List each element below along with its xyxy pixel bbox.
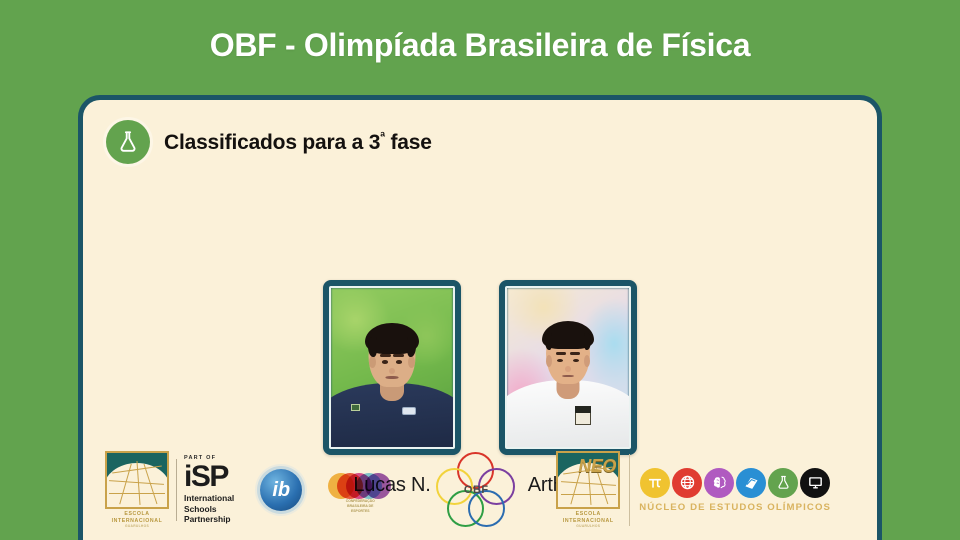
neo-emblem-word: NEO — [578, 456, 616, 477]
logo-neo-subjects: NÚCLEO DE ESTUDOS OLÍMPICOS — [639, 468, 831, 513]
logo-neo-emblem: NEO ESCOLA INTERNACIONAL GUARULHOS — [556, 451, 620, 528]
photo-hair-side-left — [368, 337, 377, 357]
escola-name-line3: GUARULHOS — [105, 524, 169, 528]
photo-brow-right — [570, 352, 580, 354]
card-header-prefix: Classificados para a 3 — [164, 131, 380, 154]
partner-logos-strip: ESCOLA INTERNACIONAL GUARULHOS PART OF i… — [95, 438, 865, 540]
photo-nose — [565, 366, 571, 372]
confederacao-logo: CONFEDERAÇÃO BRASILEIRA DE ESPORTES — [328, 473, 392, 507]
logo-escola-isp: ESCOLA INTERNACIONAL GUARULHOS PART OF i… — [105, 451, 234, 528]
flask-icon — [106, 120, 150, 164]
photo-brow-left — [556, 352, 566, 354]
card-header-label: Classificados para a 3ª fase — [164, 129, 432, 155]
photo-shirt-badge — [351, 404, 360, 411]
photo-brow-right — [393, 354, 404, 357]
pi-icon — [640, 468, 670, 498]
photo-shirt-emblem — [402, 407, 416, 415]
card-header: Classificados para a 3ª fase — [106, 120, 432, 164]
logo-confederacao: CONFEDERAÇÃO BRASILEIRA DE ESPORTES — [328, 473, 392, 507]
neo-icon-row — [640, 468, 830, 498]
monitor-icon — [800, 468, 830, 498]
photo-hair-side-left — [545, 333, 552, 350]
logo-obf: OBF — [436, 452, 516, 528]
neo-escola-logo: NEO ESCOLA INTERNACIONAL GUARULHOS — [556, 451, 620, 528]
obf-label: OBF — [436, 484, 516, 496]
globe-icon — [672, 468, 702, 498]
card-header-suffix: fase — [385, 131, 432, 154]
photo-nose — [389, 368, 395, 374]
isp-logo: PART OF iSP International Schools Partne… — [184, 456, 234, 524]
escola-internacional-logo: ESCOLA INTERNACIONAL GUARULHOS — [105, 451, 169, 528]
isp-line1: International — [184, 493, 234, 503]
logo-divider — [629, 454, 630, 526]
obf-logo: OBF — [436, 452, 516, 528]
photo-eye-left — [382, 360, 388, 364]
ib-label: ib — [272, 479, 290, 502]
student-photo — [329, 286, 455, 449]
brain-icon — [704, 468, 734, 498]
isp-line2: Schools — [184, 504, 234, 514]
flask-icon — [768, 468, 798, 498]
photo-eye-right — [573, 359, 579, 362]
student-photo — [505, 286, 631, 449]
photo-brow-left — [380, 354, 391, 357]
logo-ib: ib — [260, 469, 302, 511]
isp-line3: Partnership — [184, 514, 234, 524]
book-icon — [736, 468, 766, 498]
confederacao-caption-line3: ESPORTES — [328, 509, 392, 514]
student-photo-frame — [499, 280, 637, 455]
photo-ear-left — [546, 355, 552, 367]
neo-escola-line3: GUARULHOS — [556, 524, 620, 528]
photo-ear-left — [369, 356, 376, 368]
neo-caption: NÚCLEO DE ESTUDOS OLÍMPICOS — [639, 502, 831, 513]
ib-logo: ib — [260, 469, 302, 511]
page-title: OBF - Olimpíada Brasileira de Física — [0, 27, 960, 64]
photo-ear-right — [584, 355, 590, 367]
student-photo-frame — [323, 280, 461, 455]
photo-shirt-badge-bar — [575, 406, 591, 413]
photo-mouth — [562, 375, 574, 378]
isp-divider — [176, 459, 177, 521]
photo-mouth — [386, 376, 399, 379]
confederacao-circle — [365, 473, 391, 499]
content-card: Classificados para a 3ª fase — [78, 95, 882, 540]
isp-acronym: iSP — [184, 463, 234, 490]
